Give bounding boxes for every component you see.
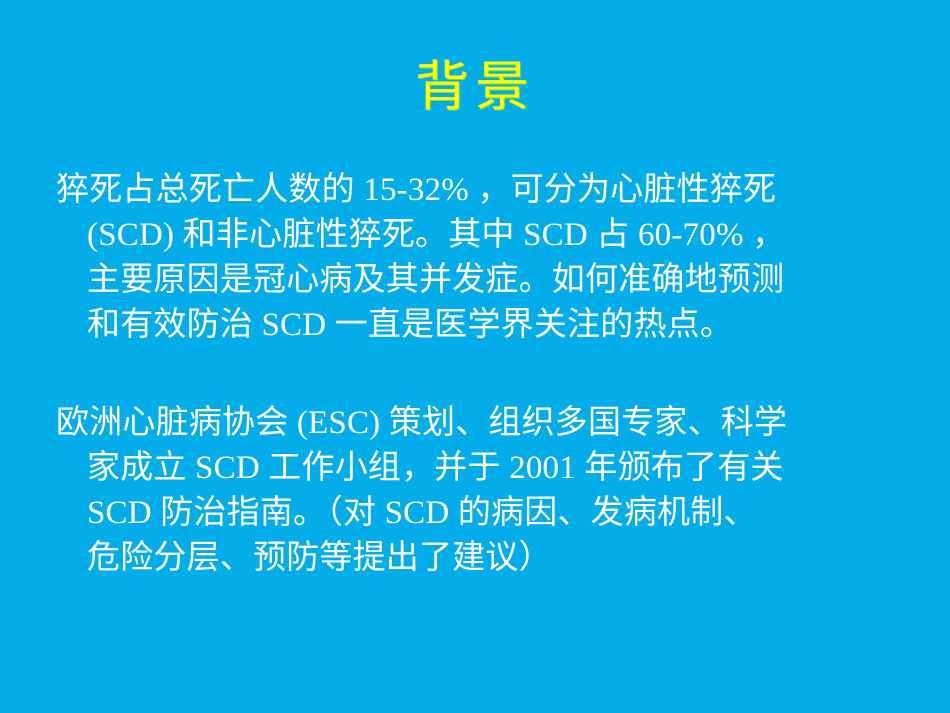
body-line: 家成立 SCD 工作小组，并于 2001 年颁布了有关 xyxy=(56,446,900,491)
body-line: 猝死占总死亡人数的 15-32% ，可分为心脏性猝死 xyxy=(56,168,900,213)
slide-body: 猝死占总死亡人数的 15-32% ，可分为心脏性猝死 (SCD) 和非心脏性猝死… xyxy=(56,168,900,581)
body-line: SCD 防治指南。（对 SCD 的病因、发病机制、 xyxy=(56,491,900,536)
body-line: 危险分层、预防等提出了建议） xyxy=(56,536,900,581)
body-line: 主要原因是冠心病及其并发症。如何准确地预测 xyxy=(56,258,900,303)
page-title: 背景 xyxy=(0,56,950,118)
body-line: 欧洲心脏病协会 (ESC) 策划、组织多国专家、科学 xyxy=(56,401,900,446)
body-line: (SCD) 和非心脏性猝死。其中 SCD 占 60-70% ， xyxy=(56,213,900,258)
paragraph-scd-definition: 猝死占总死亡人数的 15-32% ，可分为心脏性猝死 (SCD) 和非心脏性猝死… xyxy=(56,168,900,348)
paragraph-esc-guideline: 欧洲心脏病协会 (ESC) 策划、组织多国专家、科学 家成立 SCD 工作小组，… xyxy=(56,401,900,581)
body-line: 和有效防治 SCD 一直是医学界关注的热点。 xyxy=(56,303,900,348)
presentation-slide: 背景 猝死占总死亡人数的 15-32% ，可分为心脏性猝死 (SCD) 和非心脏… xyxy=(0,0,950,713)
